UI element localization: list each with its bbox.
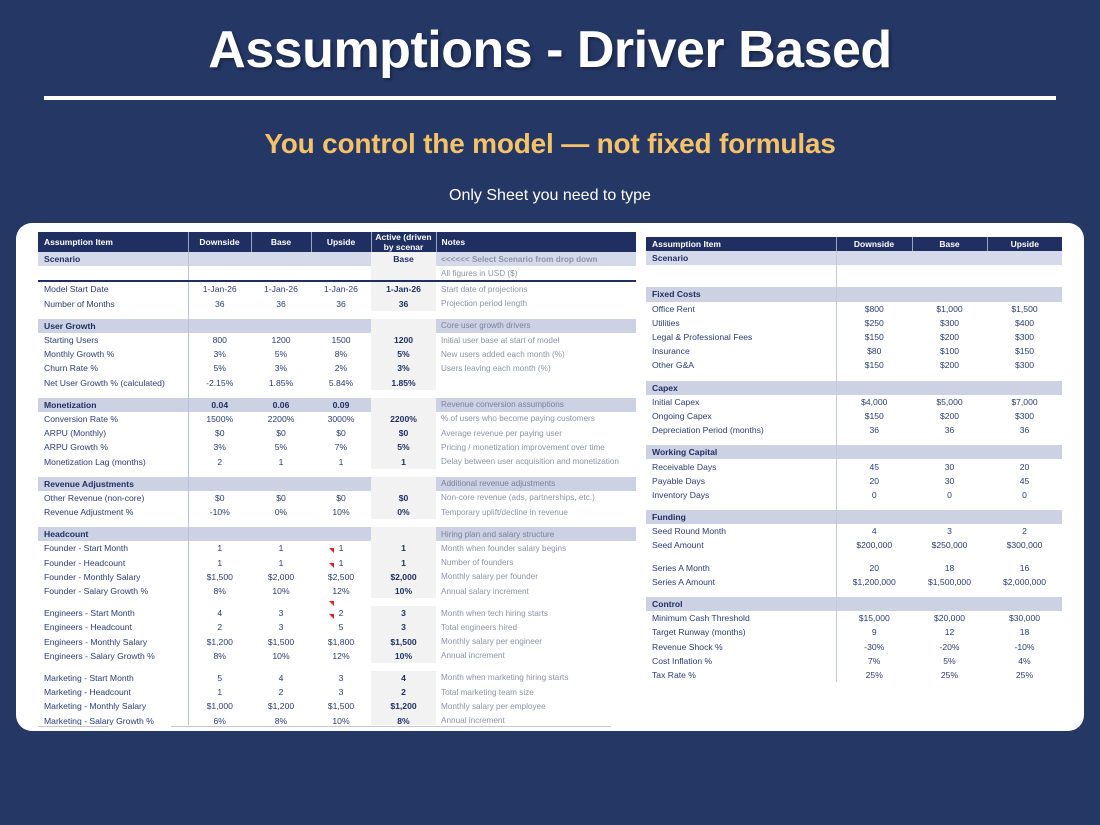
cell-upside[interactable]: 2% [311,361,371,375]
cell-base[interactable] [251,266,311,280]
cell-assumption-item[interactable]: Founder - Start Month [38,541,188,555]
table-section-row[interactable]: Capex [646,381,1062,395]
cell-upside[interactable]: 18 [987,625,1062,639]
cell-base[interactable] [912,381,987,395]
cell-downside[interactable] [188,252,251,266]
cell-base[interactable]: 18 [912,561,987,575]
cell-upside[interactable]: $7,000 [987,395,1062,409]
cell-downside[interactable]: $1,200 [188,635,251,649]
cell-assumption-item[interactable]: Founder - Monthly Salary [38,570,188,584]
cell-assumption-item[interactable]: Series A Month [646,561,836,575]
cell-base[interactable]: 5% [251,347,311,361]
cell-downside[interactable]: $15,000 [836,611,912,625]
table-row[interactable]: Seed Round Month432 [646,524,1062,538]
cell-downside[interactable]: 1 [188,541,251,555]
cell-upside[interactable]: 2 [311,606,371,620]
cell-note[interactable]: Monthly salary per employee [436,699,636,713]
cell-base[interactable]: 10% [251,649,311,663]
table-row[interactable]: Revenue Adjustment %-10%0%10%0%Temporary… [38,505,636,519]
cell-upside[interactable]: 1 [311,541,371,555]
cell-downside[interactable]: 0 [836,488,912,502]
cell-active[interactable] [371,477,436,491]
table-row[interactable]: Model Start Date1-Jan-261-Jan-261-Jan-26… [38,282,636,296]
cell-active[interactable]: 1 [371,454,436,468]
comment-marker-icon[interactable] [329,614,334,619]
cell-active[interactable]: $0 [371,491,436,505]
cell-downside[interactable]: -2.15% [188,376,251,390]
cell-note[interactable]: Temporary uplift/decline in revenue [436,505,636,519]
cell-downside[interactable]: 5 [188,671,251,685]
cell-assumption-item[interactable] [646,265,836,279]
cell-assumption-item[interactable]: Capex [646,381,836,395]
cell-assumption-item[interactable]: Target Runway (months) [646,625,836,639]
cell-downside[interactable] [836,251,912,265]
cell-assumption-item[interactable]: Revenue Adjustments [38,477,188,491]
cell-active[interactable] [371,319,436,333]
cell-assumption-item[interactable]: Churn Rate % [38,361,188,375]
cell-base[interactable]: $250,000 [912,538,987,552]
left-sheet-pane[interactable]: Assumption Item Downside Base Upside Act… [16,223,636,731]
left-table-body[interactable]: ScenarioBase<<<<<< Select Scenario from … [38,252,636,731]
cell-upside[interactable]: $0 [311,491,371,505]
cell-downside[interactable]: -10% [188,505,251,519]
cell-note[interactable]: Month when founder salary begins [436,541,636,555]
cell-base[interactable]: $1,200 [251,699,311,713]
col-notes[interactable]: Notes [436,232,636,252]
table-row[interactable]: Other G&A$150$200$300 [646,358,1062,372]
cell-downside[interactable]: $1,000 [188,699,251,713]
cell-downside[interactable] [188,266,251,280]
cell-base[interactable]: 30 [912,474,987,488]
cell-assumption-item[interactable]: Engineers - Start Month [38,606,188,620]
cell-downside[interactable]: 5% [188,361,251,375]
cell-upside[interactable]: -10% [987,640,1062,654]
cell-base[interactable]: 1 [251,556,311,570]
table-row[interactable]: Tax Rate %25%25%25% [646,668,1062,682]
cell-assumption-item[interactable]: Fixed Costs [646,287,836,301]
cell-downside[interactable]: $0 [188,491,251,505]
cell-active[interactable] [371,266,436,280]
table-row[interactable]: Conversion Rate %1500%2200%3000%2200%% o… [38,412,636,426]
cell-downside[interactable]: $0 [188,426,251,440]
cell-assumption-item[interactable]: Receivable Days [646,459,836,473]
cell-assumption-item[interactable]: Scenario [646,251,836,265]
cell-downside[interactable] [188,477,251,491]
cell-active[interactable] [371,527,436,541]
comment-marker-icon[interactable] [329,601,334,606]
cell-assumption-item[interactable]: Net User Growth % (calculated) [38,376,188,390]
cell-upside[interactable]: 12% [311,584,371,598]
cell-downside[interactable]: 800 [188,333,251,347]
cell-downside[interactable]: 25% [836,668,912,682]
table-section-row[interactable]: User GrowthCore user growth drivers [38,319,636,333]
cell-upside[interactable] [987,251,1062,265]
cell-upside[interactable]: 5.84% [311,376,371,390]
cell-assumption-item[interactable]: Depreciation Period (months) [646,423,836,437]
cell-note[interactable]: Delay between user acquisition and monet… [436,454,636,468]
cell-upside[interactable]: 0 [987,488,1062,502]
cell-assumption-item[interactable]: Marketing - Headcount [38,685,188,699]
cell-base[interactable] [251,477,311,491]
cell-assumption-item[interactable]: Monetization [38,398,188,412]
cell-note[interactable]: Core user growth drivers [436,319,636,333]
cell-upside[interactable] [311,319,371,333]
cell-downside[interactable]: 3% [188,347,251,361]
table-row[interactable]: Series A Amount$1,200,000$1,500,000$2,00… [646,575,1062,589]
cell-upside[interactable]: 10% [311,505,371,519]
cell-upside[interactable]: $300,000 [987,538,1062,552]
cell-base[interactable]: 1 [251,541,311,555]
cell-note[interactable]: Projection period length [436,297,636,311]
cell-base[interactable]: 10% [251,584,311,598]
table-row[interactable]: Starting Users800120015001200Initial use… [38,333,636,347]
col-base[interactable]: Base [912,237,987,251]
table-row[interactable]: Ongoing Capex$150$200$300 [646,409,1062,423]
cell-upside[interactable]: 12% [311,649,371,663]
table-row[interactable]: Net User Growth % (calculated)-2.15%1.85… [38,376,636,390]
table-row[interactable]: Target Runway (months)91218 [646,625,1062,639]
cell-note[interactable]: Pricing / monetization improvement over … [436,440,636,454]
cell-note[interactable]: Hiring plan and salary structure [436,527,636,541]
cell-downside[interactable]: 20 [836,561,912,575]
cell-active[interactable]: 3 [371,606,436,620]
cell-downside[interactable]: 45 [836,459,912,473]
cell-active[interactable]: 36 [371,297,436,311]
cell-upside[interactable]: 36 [311,297,371,311]
cell-upside[interactable]: 5 [311,620,371,634]
cell-note[interactable]: Start date of projections [436,282,636,296]
cell-downside[interactable]: 9 [836,625,912,639]
cell-active[interactable]: 1 [371,556,436,570]
table-row[interactable]: Marketing - Start Month5434Month when ma… [38,671,636,685]
cell-assumption-item[interactable]: Other G&A [646,358,836,372]
cell-assumption-item[interactable]: Series A Amount [646,575,836,589]
cell-base[interactable]: $2,000 [251,570,311,584]
cell-base[interactable] [251,319,311,333]
cell-upside[interactable] [987,510,1062,524]
cell-downside[interactable]: 8% [188,584,251,598]
cell-active[interactable]: 1.85% [371,376,436,390]
col-downside[interactable]: Downside [188,232,251,252]
table-row[interactable]: Insurance$80$100$150 [646,344,1062,358]
cell-active[interactable]: 5% [371,347,436,361]
cell-assumption-item[interactable]: Payable Days [646,474,836,488]
table-row[interactable]: Engineers - Monthly Salary$1,200$1,500$1… [38,635,636,649]
cell-active[interactable]: 4 [371,671,436,685]
cell-upside[interactable]: $300 [987,358,1062,372]
cell-base[interactable]: -20% [912,640,987,654]
cell-base[interactable]: 1-Jan-26 [251,282,311,296]
cell-upside[interactable] [987,265,1062,279]
col-assumption-item[interactable]: Assumption Item [646,237,836,251]
cell-downside[interactable]: 2 [188,454,251,468]
table-row[interactable]: Seed Amount$200,000$250,000$300,000 [646,538,1062,552]
cell-downside[interactable] [188,319,251,333]
cell-downside[interactable]: 3% [188,440,251,454]
cell-upside[interactable]: $1,800 [311,635,371,649]
cell-downside[interactable]: 36 [188,297,251,311]
cell-upside[interactable]: 45 [987,474,1062,488]
cell-assumption-item[interactable]: Model Start Date [38,282,188,296]
cell-downside[interactable]: 7% [836,654,912,668]
cell-assumption-item[interactable]: Number of Months [38,297,188,311]
cell-assumption-item[interactable]: Founder - Salary Growth % [38,584,188,598]
cell-downside[interactable]: 20 [836,474,912,488]
table-section-row[interactable]: Control [646,597,1062,611]
cell-assumption-item[interactable]: Scenario [38,252,188,266]
cell-base[interactable]: 3 [912,524,987,538]
cell-upside[interactable] [311,477,371,491]
cell-active[interactable]: $2,000 [371,570,436,584]
cell-downside[interactable] [836,265,912,279]
cell-base[interactable]: 3 [251,606,311,620]
cell-downside[interactable]: 1 [188,685,251,699]
table-row[interactable]: Series A Month201816 [646,561,1062,575]
cell-note[interactable]: Monthly salary per founder [436,570,636,584]
cell-base[interactable]: $200 [912,409,987,423]
table-row[interactable] [646,265,1062,279]
cell-upside[interactable] [311,527,371,541]
cell-base[interactable]: $1,500,000 [912,575,987,589]
cell-assumption-item[interactable] [38,266,188,280]
cell-assumption-item[interactable]: Engineers - Headcount [38,620,188,634]
cell-active[interactable]: 1-Jan-26 [371,282,436,296]
table-row[interactable]: Inventory Days000 [646,488,1062,502]
cell-base[interactable] [912,510,987,524]
col-assumption-item[interactable]: Assumption Item [38,232,188,252]
table-section-row[interactable]: HeadcountHiring plan and salary structur… [38,527,636,541]
assumptions-table-left[interactable]: Assumption Item Downside Base Upside Act… [38,232,636,731]
cell-base[interactable]: 36 [251,297,311,311]
cell-active[interactable]: 10% [371,584,436,598]
cell-active[interactable]: 3 [371,620,436,634]
cell-upside[interactable]: 1 [311,556,371,570]
cell-note[interactable]: Number of founders [436,556,636,570]
cell-note[interactable]: New users added each month (%) [436,347,636,361]
cell-assumption-item[interactable]: Headcount [38,527,188,541]
cell-base[interactable] [912,597,987,611]
table-row[interactable]: Number of Months36363636Projection perio… [38,297,636,311]
table-row[interactable]: Engineers - Headcount2353Total engineers… [38,620,636,634]
cell-note[interactable]: All figures in USD ($) [436,266,636,280]
cell-base[interactable]: $100 [912,344,987,358]
cell-downside[interactable]: 36 [836,423,912,437]
cell-downside[interactable]: 1-Jan-26 [188,282,251,296]
cell-base[interactable]: 5% [251,440,311,454]
col-upside[interactable]: Upside [311,232,371,252]
col-active[interactable]: Active (driven by scenar [371,232,436,252]
cell-note[interactable]: Month when marketing hiring starts [436,671,636,685]
cell-note[interactable]: Total engineers hired [436,620,636,634]
cell-active[interactable]: $0 [371,426,436,440]
cell-assumption-item[interactable]: Marketing - Start Month [38,671,188,685]
table-row[interactable]: Minimum Cash Threshold$15,000$20,000$30,… [646,611,1062,625]
cell-downside[interactable]: $1,200,000 [836,575,912,589]
cell-downside[interactable]: $150 [836,330,912,344]
cell-upside[interactable]: $30,000 [987,611,1062,625]
table-row[interactable]: Office Rent$800$1,000$1,500 [646,302,1062,316]
cell-assumption-item[interactable]: User Growth [38,319,188,333]
cell-base[interactable]: 0 [912,488,987,502]
cell-downside[interactable]: $200,000 [836,538,912,552]
cell-note[interactable]: Annual salary increment [436,584,636,598]
cell-downside[interactable]: 1500% [188,412,251,426]
table-section-row[interactable]: Revenue AdjustmentsAdditional revenue ad… [38,477,636,491]
table-section-row[interactable]: ScenarioBase<<<<<< Select Scenario from … [38,252,636,266]
cell-base[interactable]: $1,000 [912,302,987,316]
cell-upside[interactable]: 1-Jan-26 [311,282,371,296]
cell-downside[interactable]: $150 [836,358,912,372]
cell-base[interactable]: 5% [912,654,987,668]
cell-base[interactable]: 1 [251,454,311,468]
cell-assumption-item[interactable]: Starting Users [38,333,188,347]
cell-downside[interactable]: 4 [188,606,251,620]
cell-downside[interactable]: 4 [836,524,912,538]
cell-assumption-item[interactable]: Revenue Shock % [646,640,836,654]
cell-upside[interactable] [987,597,1062,611]
cell-base[interactable]: $0 [251,426,311,440]
cell-base[interactable]: 1.85% [251,376,311,390]
cell-assumption-item[interactable]: Cost Inflation % [646,654,836,668]
cell-upside[interactable]: 36 [987,423,1062,437]
cell-active[interactable]: $1,500 [371,635,436,649]
cell-upside[interactable]: $300 [987,409,1062,423]
cell-downside[interactable]: -30% [836,640,912,654]
table-row[interactable]: Receivable Days453020 [646,459,1062,473]
cell-upside[interactable] [311,266,371,280]
cell-base[interactable]: 12 [912,625,987,639]
cell-base[interactable]: $200 [912,358,987,372]
cell-base[interactable]: 25% [912,668,987,682]
cell-upside[interactable] [987,381,1062,395]
cell-base[interactable]: $20,000 [912,611,987,625]
cell-note[interactable]: Total marketing team size [436,685,636,699]
cell-assumption-item[interactable]: Seed Amount [646,538,836,552]
cell-assumption-item[interactable]: Inventory Days [646,488,836,502]
cell-upside[interactable]: 1 [311,454,371,468]
cell-note[interactable]: Monthly salary per engineer [436,635,636,649]
cell-base[interactable] [251,527,311,541]
cell-upside[interactable]: $2,000,000 [987,575,1062,589]
table-row[interactable]: ARPU (Monthly)$0$0$0$0Average revenue pe… [38,426,636,440]
table-row[interactable]: Engineers - Start Month4323Month when te… [38,606,636,620]
cell-base[interactable] [912,251,987,265]
cell-assumption-item[interactable]: ARPU Growth % [38,440,188,454]
cell-assumption-item[interactable]: ARPU (Monthly) [38,426,188,440]
cell-upside[interactable] [987,445,1062,459]
cell-active[interactable]: Base [371,252,436,266]
cell-upside[interactable]: $1,500 [987,302,1062,316]
cell-upside[interactable]: $300 [987,330,1062,344]
col-upside[interactable]: Upside [987,237,1062,251]
cell-note[interactable]: Revenue conversion assumptions [436,398,636,412]
cell-active[interactable] [371,398,436,412]
cell-base[interactable]: 30 [912,459,987,473]
table-row[interactable]: All figures in USD ($) [38,266,636,280]
cell-downside[interactable]: $1,500 [188,570,251,584]
table-row[interactable]: Founder - Salary Growth %8%10%12%10%Annu… [38,584,636,598]
cell-upside[interactable]: $2,500 [311,570,371,584]
cell-assumption-item[interactable]: Control [646,597,836,611]
cell-assumption-item[interactable]: Other Revenue (non-core) [38,491,188,505]
assumptions-table-right[interactable]: Assumption Item Downside Base Upside Sce… [646,237,1062,682]
cell-assumption-item[interactable]: Utilities [646,316,836,330]
cell-downside[interactable] [836,510,912,524]
cell-active[interactable]: 3% [371,361,436,375]
cell-base[interactable] [912,265,987,279]
cell-upside[interactable]: 3 [311,685,371,699]
cell-note[interactable]: Average revenue per paying user [436,426,636,440]
cell-note[interactable]: Non-core revenue (ads, partnerships, etc… [436,491,636,505]
cell-base[interactable]: 1200 [251,333,311,347]
cell-upside[interactable]: 0.09 [311,398,371,412]
cell-assumption-item[interactable]: Monetization Lag (months) [38,454,188,468]
cell-assumption-item[interactable]: Ongoing Capex [646,409,836,423]
comment-marker-icon[interactable] [329,563,334,568]
table-row[interactable]: ARPU Growth %3%5%7%5%Pricing / monetizat… [38,440,636,454]
cell-base[interactable]: 3 [251,620,311,634]
table-row[interactable]: Founder - Monthly Salary$1,500$2,000$2,5… [38,570,636,584]
cell-upside[interactable]: 16 [987,561,1062,575]
table-row[interactable]: Monthly Growth %3%5%8%5%New users added … [38,347,636,361]
cell-upside[interactable]: 25% [987,668,1062,682]
cell-base[interactable]: $200 [912,330,987,344]
table-row[interactable]: Monetization Lag (months)2111Delay betwe… [38,454,636,468]
cell-upside[interactable] [311,252,371,266]
cell-active[interactable]: 2200% [371,412,436,426]
table-row[interactable]: Churn Rate %5%3%2%3%Users leaving each m… [38,361,636,375]
cell-base[interactable]: $300 [912,316,987,330]
right-table-body[interactable]: ScenarioFixed CostsOffice Rent$800$1,000… [646,251,1062,682]
cell-base[interactable]: $5,000 [912,395,987,409]
table-row[interactable]: Depreciation Period (months)363636 [646,423,1062,437]
cell-assumption-item[interactable]: Funding [646,510,836,524]
table-row[interactable]: Marketing - Headcount1232Total marketing… [38,685,636,699]
cell-assumption-item[interactable]: Engineers - Monthly Salary [38,635,188,649]
cell-assumption-item[interactable]: Founder - Headcount [38,556,188,570]
cell-active[interactable]: 5% [371,440,436,454]
table-section-row[interactable]: Fixed Costs [646,287,1062,301]
cell-upside[interactable]: 3 [311,671,371,685]
table-row[interactable]: Revenue Shock %-30%-20%-10% [646,640,1062,654]
cell-downside[interactable] [188,527,251,541]
cell-assumption-item[interactable]: Minimum Cash Threshold [646,611,836,625]
cell-base[interactable]: $0 [251,491,311,505]
cell-assumption-item[interactable]: Initial Capex [646,395,836,409]
cell-note[interactable]: % of users who become paying customers [436,412,636,426]
cell-base[interactable]: 0.06 [251,398,311,412]
cell-downside[interactable]: 8% [188,649,251,663]
cell-base[interactable]: 2200% [251,412,311,426]
cell-downside[interactable]: $150 [836,409,912,423]
cell-assumption-item[interactable]: Seed Round Month [646,524,836,538]
cell-note[interactable] [436,376,636,390]
table-section-row[interactable]: Scenario [646,251,1062,265]
cell-base[interactable]: 3% [251,361,311,375]
cell-upside[interactable]: 4% [987,654,1062,668]
cell-base[interactable] [251,252,311,266]
cell-upside[interactable]: $150 [987,344,1062,358]
cell-active[interactable]: 10% [371,649,436,663]
cell-assumption-item[interactable]: Office Rent [646,302,836,316]
table-section-row[interactable]: Monetization0.040.060.09Revenue conversi… [38,398,636,412]
cell-active[interactable]: 1 [371,541,436,555]
cell-downside[interactable]: 2 [188,620,251,634]
table-row[interactable]: Initial Capex$4,000$5,000$7,000 [646,395,1062,409]
cell-assumption-item[interactable]: Insurance [646,344,836,358]
cell-upside[interactable]: 3000% [311,412,371,426]
cell-upside[interactable]: 1500 [311,333,371,347]
